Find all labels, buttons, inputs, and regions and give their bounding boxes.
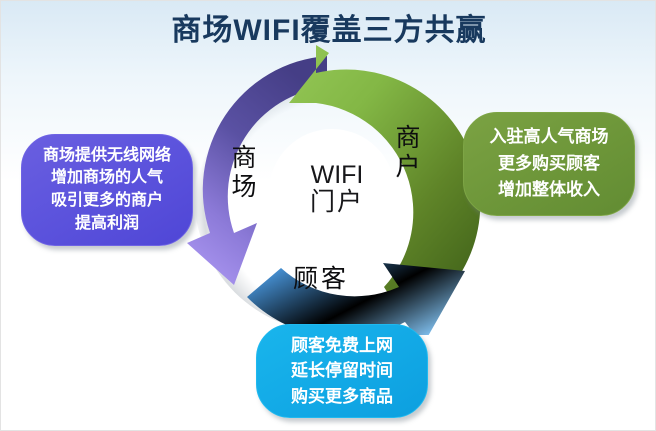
- callout-merchant: 入驻高人气商场 更多购买顾客 增加整体收入: [463, 112, 635, 216]
- callout-mall-line-4: 提高利润: [75, 213, 139, 236]
- callout-mall-line-3: 吸引更多的商户: [51, 190, 163, 213]
- page-title: 商场WIFI覆盖三方共赢: [1, 5, 656, 49]
- callout-mall-line-1: 商场提供无线网络: [43, 145, 171, 168]
- callout-customer-line-1: 顾客免费上网: [291, 333, 393, 358]
- callout-merchant-line-2: 更多购买顾客: [498, 151, 600, 177]
- callout-merchant-line-3: 增加整体收入: [498, 177, 600, 203]
- callout-merchant-line-1: 入驻高人气商场: [490, 124, 609, 150]
- callout-mall: 商场提供无线网络 增加商场的人气 吸引更多的商户 提高利润: [21, 134, 193, 246]
- cycle-diagram: [177, 45, 487, 335]
- callout-mall-line-2: 增加商场的人气: [51, 167, 163, 190]
- callout-customer-line-2: 延长停留时间: [291, 358, 393, 383]
- center-hub: [269, 129, 395, 255]
- diagram-canvas: 商场WIFI覆盖三方共赢: [0, 0, 656, 431]
- callout-customer: 顾客免费上网 延长停留时间 购买更多商品: [256, 324, 428, 418]
- callout-customer-line-3: 购买更多商品: [291, 384, 393, 409]
